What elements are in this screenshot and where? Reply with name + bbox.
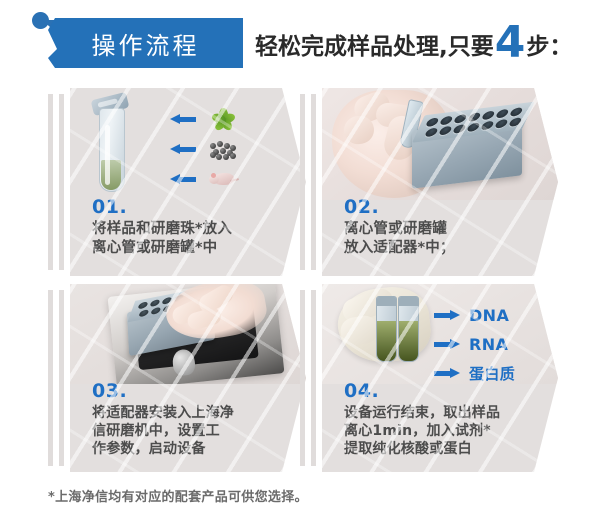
headline-step-count: 4 (495, 25, 526, 60)
step-card-panel: DNA RNA 蛋白质 04. 设备运行结束，取出样品 (322, 284, 558, 472)
section-title-banner: 操作流程 (48, 18, 243, 68)
step-card-04: DNA RNA 蛋白质 04. 设备运行结束，取出样品 (300, 284, 558, 472)
step-text-line: 放入适配器*中； (344, 239, 549, 258)
step-card-01: 01. 将样品和研磨珠*放入 离心管或研磨罐*中 (48, 88, 306, 276)
grinding-beads-icon (208, 136, 238, 162)
card-accent-bar (311, 290, 316, 466)
step-card-02: 02. 离心管或研磨罐 放入适配器*中； (300, 88, 558, 276)
card-accent-bar (59, 290, 64, 466)
card-accent-bar (59, 94, 64, 270)
step-card-panel: 03. 将适配器安装入上海净 信研磨机中，设置工 作参数，启动设备 (70, 284, 306, 472)
headline-prefix: 轻松完成样品处理,只要 (255, 27, 494, 61)
output-label-text: RNA (469, 335, 508, 354)
step-text-line: 离心1min，加入试剂* (344, 422, 549, 440)
step-text-line: 设备运行结束，取出样品 (344, 404, 549, 422)
output-label-list: DNA RNA 蛋白质 (434, 306, 552, 384)
headline: 轻松完成样品处理,只要 4 步： (255, 22, 572, 61)
card-accent-bar (300, 290, 305, 466)
sample-tubes-icon (376, 296, 422, 364)
step-text-line: 信研磨机中，设置工 (92, 422, 297, 440)
infographic-page: 操作流程 轻松完成样品处理,只要 4 步： (0, 0, 600, 526)
step-text-line: 离心管或研磨罐 (344, 220, 549, 239)
output-label-protein: 蛋白质 (434, 364, 552, 382)
sample-arrow-row-animal (170, 166, 238, 192)
step-number: 03. (92, 382, 297, 402)
mouse-sample-icon (208, 166, 238, 192)
output-label-text: DNA (469, 306, 509, 325)
arrow-left-icon (170, 144, 196, 155)
step-text-line: 提取纯化核酸或蛋白 (344, 440, 549, 458)
arrow-right-icon (434, 339, 460, 350)
step-caption-02: 02. 离心管或研磨罐 放入适配器*中； (344, 198, 549, 258)
step-text-line: 将适配器安装入上海净 (92, 404, 297, 422)
output-label-text: 蛋白质 (469, 363, 515, 384)
plant-sample-icon (208, 106, 238, 132)
step-card-panel: 02. 离心管或研磨罐 放入适配器*中； (322, 88, 558, 276)
arrow-left-icon (170, 114, 196, 125)
arrow-right-icon (434, 310, 460, 321)
sample-arrow-row-plant (170, 106, 238, 132)
output-label-dna: DNA (434, 306, 552, 324)
footnote-text: *上海净信均有对应的配套产品可供您选择。 (48, 486, 308, 505)
headline-suffix: 步： (526, 27, 572, 61)
card-accent-bar (48, 94, 53, 270)
page-header: 操作流程 轻松完成样品处理,只要 4 步： (0, 0, 600, 88)
card-accent-bar (311, 94, 316, 270)
step-caption-01: 01. 将样品和研磨珠*放入 离心管或研磨罐*中 (92, 198, 297, 258)
step-number: 01. (92, 198, 297, 218)
card-accent-bar (48, 290, 53, 466)
step-number: 04. (344, 382, 549, 402)
card-accent-bar (300, 94, 305, 270)
arrow-left-icon (170, 174, 196, 185)
step-text-line: 离心管或研磨罐*中 (92, 239, 297, 258)
step-illustration-hand-adapter (322, 88, 558, 200)
section-title-text: 操作流程 (48, 18, 243, 68)
arrow-right-icon (434, 368, 460, 379)
step-illustration-grinder-install (70, 284, 306, 384)
step-card-panel: 01. 将样品和研磨珠*放入 离心管或研磨罐*中 (70, 88, 306, 276)
step-text-line: 作参数，启动设备 (92, 440, 297, 458)
centrifuge-tube-icon (96, 96, 126, 192)
output-label-rna: RNA (434, 335, 552, 353)
step-illustration-tube-samples (70, 88, 306, 200)
step-illustration-extraction-outputs: DNA RNA 蛋白质 (322, 284, 558, 384)
step-card-03: 03. 将适配器安装入上海净 信研磨机中，设置工 作参数，启动设备 (48, 284, 306, 472)
step-number: 02. (344, 198, 549, 218)
sample-arrow-row-beads (170, 136, 238, 162)
step-card-grid: 01. 将样品和研磨珠*放入 离心管或研磨罐*中 (0, 88, 600, 478)
step-caption-03: 03. 将适配器安装入上海净 信研磨机中，设置工 作参数，启动设备 (92, 382, 297, 459)
step-text-line: 将样品和研磨珠*放入 (92, 220, 297, 239)
step-caption-04: 04. 设备运行结束，取出样品 离心1min，加入试剂* 提取纯化核酸或蛋白 (344, 382, 549, 459)
